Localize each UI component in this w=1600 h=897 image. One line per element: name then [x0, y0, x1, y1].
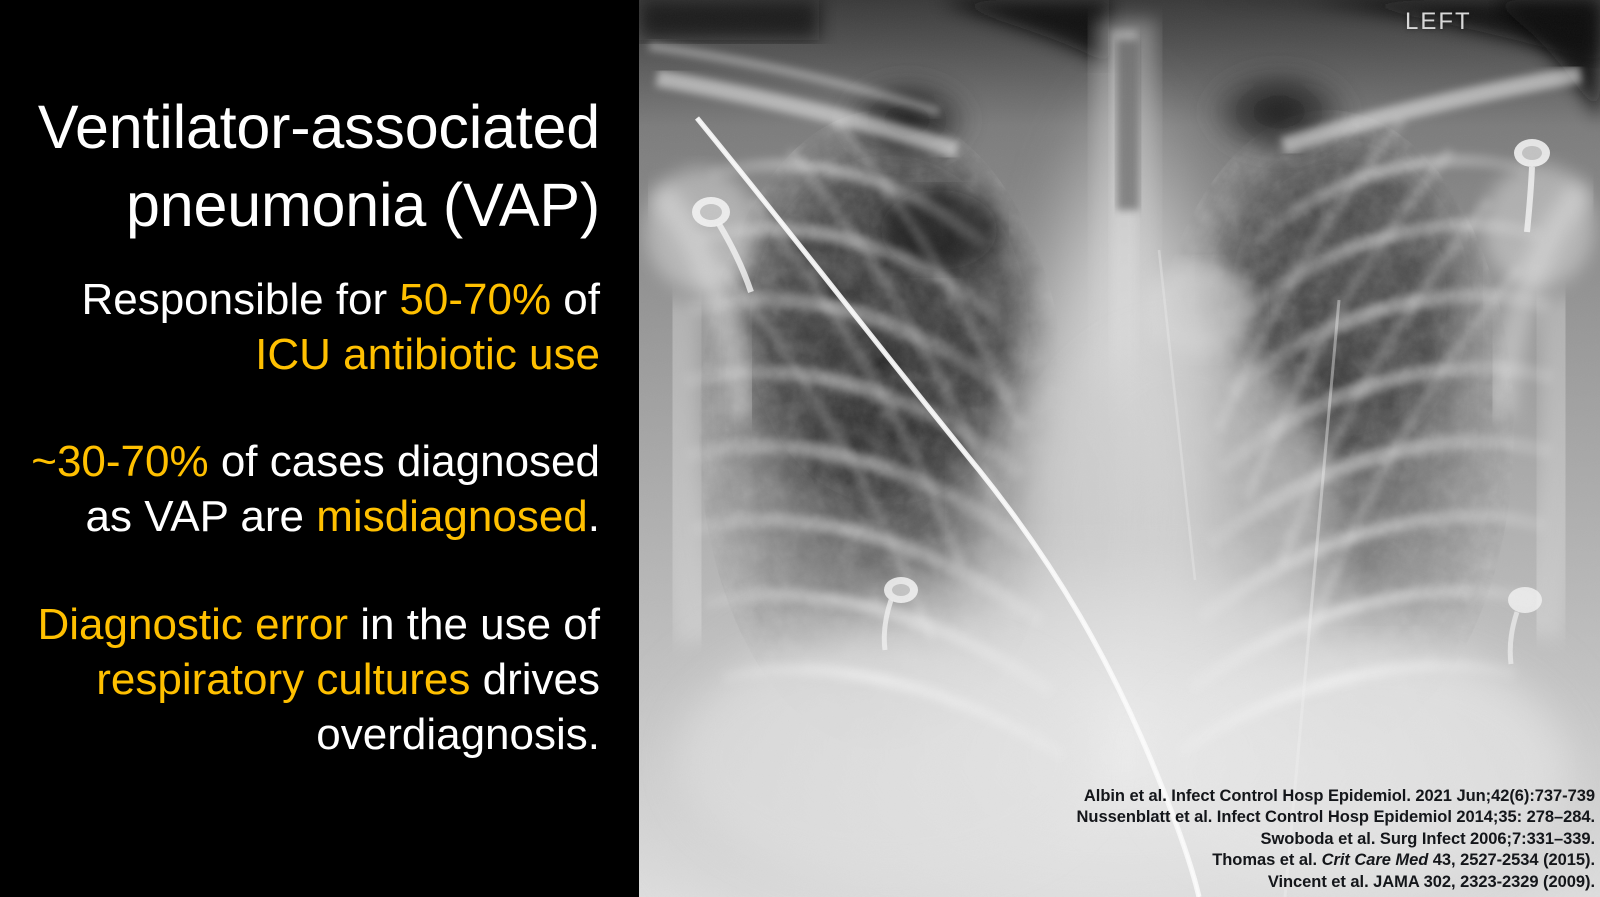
text-panel: Ventilator-associated pneumonia (VAP) Re…: [0, 0, 639, 897]
citation-text: Swoboda et al. Surg Infect 2006;7:331–33…: [1261, 830, 1595, 848]
citation-text: Thomas et al.: [1212, 851, 1321, 869]
title-line-2: pneumonia (VAP): [126, 171, 600, 239]
statement-misdiagnosis: ~30-70% of cases diagnosed as VAP are mi…: [8, 434, 600, 544]
citation-item: Vincent et al. JAMA 302, 2323-2329 (2009…: [1055, 872, 1595, 893]
citation-item: Nussenblatt et al. Infect Control Hosp E…: [1055, 807, 1595, 828]
p2-highlight-misdiagnosed: misdiagnosed: [316, 492, 588, 541]
p3-highlight-diagnostic-error: Diagnostic error: [37, 600, 348, 649]
p1-seg-3: of: [551, 275, 600, 324]
chest-xray-image: [639, 0, 1600, 897]
xray-graphic: [639, 0, 1600, 897]
citation-item: Albin et al. Infect Control Hosp Epidemi…: [1055, 786, 1595, 807]
p2-highlight-percentage: ~30-70%: [31, 437, 208, 486]
p3-highlight-respiratory-cultures: respiratory cultures: [96, 655, 470, 704]
p1-highlight-percentage: 50-70%: [399, 275, 551, 324]
title-line-1: Ventilator-associated: [38, 93, 600, 161]
p2-seg-4: .: [588, 492, 600, 541]
page-title: Ventilator-associated pneumonia (VAP): [8, 88, 600, 244]
citation-text: Nussenblatt et al. Infect Control Hosp E…: [1077, 808, 1595, 826]
p3-seg-2: in the use of: [348, 600, 600, 649]
slide-root: LEFT Ventilator-associated pneumonia (VA…: [0, 0, 1600, 897]
citation-text-tail: 43, 2527-2534 (2015).: [1428, 851, 1595, 869]
citation-item: Thomas et al. Crit Care Med 43, 2527-253…: [1055, 850, 1595, 871]
p1-seg-1: Responsible for: [81, 275, 399, 324]
citation-list: Albin et al. Infect Control Hosp Epidemi…: [1055, 786, 1595, 893]
citation-item: Swoboda et al. Surg Infect 2006;7:331–33…: [1055, 829, 1595, 850]
xray-left-orientation-marker: LEFT: [1405, 8, 1472, 36]
citation-journal: Crit Care Med: [1322, 851, 1429, 869]
p1-highlight-icu-antibiotic-use: ICU antibiotic use: [255, 330, 600, 379]
statement-antibiotic-use: Responsible for 50-70% of ICU antibiotic…: [8, 272, 600, 382]
citation-text: Albin et al. Infect Control Hosp Epidemi…: [1084, 787, 1595, 805]
citation-text: Vincent et al. JAMA 302, 2323-2329 (2009…: [1268, 873, 1595, 891]
statement-diagnostic-error: Diagnostic error in the use of respirato…: [8, 597, 600, 762]
